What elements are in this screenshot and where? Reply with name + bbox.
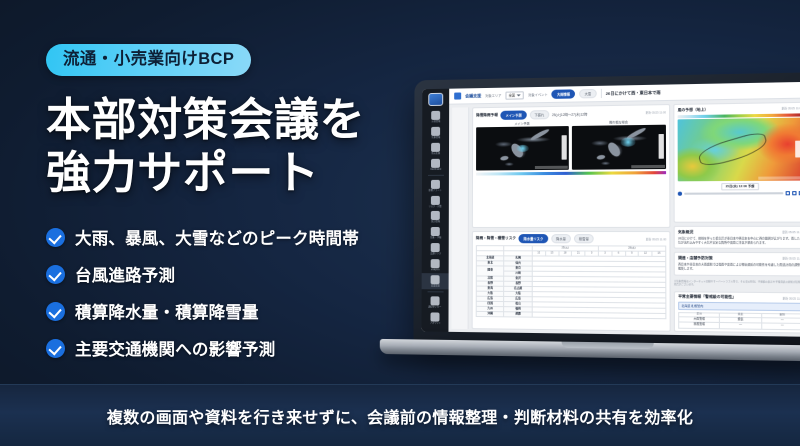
sidebar-item-0[interactable]: 災害情報 (422, 109, 449, 125)
sidebar-item-8[interactable]: 交通リンク (422, 241, 449, 257)
card-title: 関連・店舗予防対策 (678, 256, 713, 261)
rain-area (620, 138, 635, 147)
area-select[interactable]: 全国 (505, 91, 524, 99)
pie-icon (431, 259, 440, 268)
list-item: 主要交通機関への影響予測 (46, 336, 426, 360)
footnote: ※気象情報はインターネット回線やサーバートラブル等で、その日の時刻、予報値の表示… (674, 281, 800, 289)
sidebar-item-label: リスク・対策 (429, 206, 442, 208)
shield-icon (431, 195, 440, 204)
list-item: 台風進路予測 (46, 262, 426, 286)
map-icon (431, 227, 440, 236)
map-legend (561, 135, 566, 159)
list-item: 積算降水量・積算降雪量 (46, 299, 426, 323)
map-caption: 振れ幅な場合 (571, 119, 666, 124)
sidebar-divider (427, 291, 443, 292)
japan-map-alt[interactable] (571, 124, 666, 169)
updated-time: 更新 05/25 11:00 (782, 296, 800, 300)
risk-table[interactable]: 25(火) 26(水) 12 15 (476, 245, 667, 319)
meeting-icon (431, 275, 440, 284)
laptop-mockup: 災害情報 気象情報 防災気象 Dashboard (403, 72, 800, 389)
content-columns: 降雪降雨予報 メイン予測 下振れ 25(火)12時〜27(木)12時 更新 05… (472, 102, 800, 334)
tab-main-forecast[interactable]: メイン予測 (500, 110, 526, 119)
area-label: 対象エリア (485, 93, 501, 98)
card-header: 降雨・降雪・積雪リスク 降水量リスク 降水量 積雪量 更新 05/25 11:0… (476, 234, 666, 243)
sidebar-item-10[interactable]: 会議支援 (422, 273, 449, 289)
precipitation-colorbar (476, 171, 666, 176)
sidebar-item-5[interactable]: リスク・対策 (422, 193, 449, 209)
weather-summary-card: 気象概況 更新 05/25 11:00 26日にかけて、前線を伴った低気圧が東日… (674, 226, 800, 250)
app-title: 会議支援 (465, 93, 481, 99)
caption-bar: 複数の画面や資料を行き来せずに、会議前の情報整理・判断材料の共有を効率化 (0, 384, 800, 446)
map-main-wrap: メイン予測 (476, 120, 568, 170)
forecast-period: 25(火)12時〜27(木)12時 (552, 111, 587, 117)
train-icon (431, 243, 440, 252)
sidebar-item-2[interactable]: 防災気象 (422, 141, 449, 157)
toolbar-divider (600, 89, 601, 98)
graph-icon (431, 211, 440, 220)
list-item: 大雨、暴風、大雪などのピーク時間帯 (46, 225, 426, 249)
updated-time: 更新 05/25 11:00 (646, 237, 667, 241)
sidebar-item-label: 会議支援 (431, 285, 440, 287)
sidebar-item-label: 交通リンク (430, 253, 441, 255)
card-header: 風の予想（地上） 更新 05/25 11:00 (678, 106, 800, 113)
feature-label: 大雨、暴風、大雪などのピーク時間帯 (75, 225, 359, 249)
rain-forecast-card: 降雪降雨予報 メイン予測 下振れ 25(火)12時〜27(木)12時 更新 05… (472, 104, 671, 228)
headline-summary: 26日にかけて西・東日本で雨 (606, 89, 661, 96)
alert-table-card: 平常主要情報「警戒級の可能性」 更新 05/25 11:00 北海道 札幌管内 … (674, 291, 800, 334)
hero-copy: 流通・小売業向けBCP 本部対策会議を 強力サポート 大雨、暴風、大雪などのピー… (46, 44, 426, 373)
time-slider[interactable] (678, 191, 800, 196)
wind-map[interactable] (678, 118, 800, 182)
card-title: 風の予想（地上） (678, 107, 709, 113)
sidebar-item-4[interactable]: 影響アラート (422, 177, 449, 193)
sidebar-item-label: analytics (431, 269, 440, 271)
bar-chart-icon (454, 92, 461, 99)
hero-banner: 流通・小売業向けBCP 本部対策会議を 強力サポート 大雨、暴風、大雪などのピー… (0, 0, 800, 446)
sidebar-item-9[interactable]: analytics (422, 257, 449, 273)
kyushu-shape (500, 155, 509, 160)
sidebar-item-label: 通知センター (428, 306, 441, 308)
feature-label: 主要交通機関への影響予測 (75, 336, 275, 360)
check-circle-icon (46, 265, 65, 284)
city-cell: 那覇 (504, 312, 532, 317)
column-right: 風の予想（地上） 更新 05/25 11:00 (673, 102, 800, 334)
table-row[interactable]: 暴風警報—— (679, 322, 800, 329)
alert-clear: — (761, 323, 800, 329)
action-body: 西日本や東日本の大雨発現では強雨や雷雨による物流遅延の可能性を考慮した配送計画の… (678, 263, 800, 272)
laptop-lid: 災害情報 気象情報 防災気象 Dashboard (413, 72, 800, 348)
app-logo-icon[interactable] (428, 93, 443, 106)
sidebar-item-label: 防災気象 (431, 153, 440, 155)
alert-table-body: 大雨警報発表— 暴風警報—— (679, 317, 800, 329)
updated-time: 更新 05/25 11:00 (782, 257, 800, 261)
action-plan-card: 関連・店舗予防対策 更新 05/25 11:00 西日本や東日本の大雨発現では強… (674, 252, 800, 276)
app-sidebar[interactable]: 災害情報 気象情報 防災気象 Dashboard (421, 89, 449, 332)
map-caption: メイン予測 (476, 120, 568, 125)
honshu-shape (606, 140, 622, 158)
sidebar-item-label: 影響アラート (429, 190, 442, 192)
radar-icon (431, 143, 440, 152)
sidebar-item-label: Dashboard (430, 169, 441, 171)
summary-body: 26日にかけて、前線を伴った低気圧が東日本や西日本を中心に西の範囲が広がります。… (678, 237, 800, 246)
sidebar-item-label: アカウント (429, 322, 440, 324)
updated-time: 更新 05/25 11:00 (782, 230, 800, 234)
card-title: 気象概況 (678, 230, 693, 235)
rain-area (516, 145, 528, 152)
alert-icon (431, 111, 440, 120)
tab-snow-depth[interactable]: 積雪量 (574, 234, 594, 243)
tab-precip-risk[interactable]: 降水量リスク (519, 234, 549, 243)
card-title: 降雪降雨予報 (476, 112, 498, 117)
alert-table[interactable]: 区分 発表 解除 大雨警報発表— 暴風警報—— (678, 312, 800, 330)
risk-table-body: 北海道札幌 東北仙台 関東東京 川崎 北陸金沢 長野長野 東海名古屋 大阪大阪 (476, 256, 666, 319)
map-legend (795, 140, 800, 157)
sidebar-item-11[interactable]: 通知センター (422, 294, 449, 310)
sidebar-item-1[interactable]: 気象情報 (422, 125, 449, 141)
cloud-icon (431, 127, 440, 136)
sidebar-item-label: 統計情報 (431, 221, 440, 223)
wind-forecast-card: 風の予想（地上） 更新 05/25 11:00 (673, 102, 800, 223)
secondary-nav-rail[interactable] (451, 107, 469, 329)
feature-list: 大雨、暴風、大雪などのピーク時間帯 台風進路予測 積算降水量・積算降雪量 主要交… (46, 225, 426, 360)
card-title: 平常主要情報「警戒級の可能性」 (678, 295, 736, 301)
japan-map-main[interactable] (476, 126, 568, 171)
headline-line-2: 強力サポート (46, 146, 426, 199)
region-cell: 沖縄 (476, 312, 504, 317)
slider-handle[interactable] (678, 191, 682, 195)
feature-label: 積算降水量・積算降雪量 (75, 299, 259, 323)
account-icon (430, 312, 439, 321)
sidebar-item-label: 災害情報 (431, 121, 440, 123)
chart-icon (431, 159, 440, 168)
kyushu-shape (596, 154, 605, 159)
sidebar-item-3[interactable]: Dashboard (422, 156, 449, 172)
card-header: 関連・店舗予防対策 更新 05/25 11:00 (678, 256, 800, 262)
check-circle-icon (46, 302, 65, 321)
hokkaido-shape (529, 128, 549, 142)
sidebar-item-7[interactable]: 気象・予報 (422, 225, 449, 241)
check-circle-icon (46, 339, 65, 358)
coastline-overlay (696, 130, 769, 170)
step-back-button[interactable] (786, 191, 790, 195)
card-title: 降雨・降雪・積雪リスク (476, 236, 516, 241)
table-row[interactable]: 沖縄那覇 (476, 312, 666, 319)
app-screen: 災害情報 気象情報 防災気象 Dashboard (421, 82, 800, 337)
event-label: 対象イベント (528, 92, 548, 97)
updated-time: 更新 05/25 11:00 (646, 110, 666, 114)
map-attribution (758, 176, 800, 179)
category-badge: 流通・小売業向けBCP (46, 44, 251, 76)
tab-precip[interactable]: 降水量 (551, 234, 571, 243)
region-cell: 関東 (476, 266, 504, 276)
card-header: 降雪降雨予報 メイン予測 下振れ 25(火)12時〜27(木)12時 更新 05… (476, 108, 666, 120)
slider-track[interactable] (684, 192, 783, 195)
forecast-time-label: 25日(水) 12:00 予想 (721, 182, 759, 190)
notify-icon (431, 296, 440, 305)
map-pair: メイン予測 (476, 119, 666, 170)
sidebar-item-6[interactable]: 統計情報 (422, 209, 449, 225)
map-attribution (534, 165, 567, 168)
alert-kind: 暴風警報 (679, 322, 720, 328)
bell-icon (431, 179, 440, 188)
map-attribution (631, 164, 665, 167)
sidebar-item-label: 気象情報 (431, 137, 440, 139)
app-main: 会議支援 対象エリア 全国 対象イベント 大雨情報 大雪 26日にかけて西・東日… (448, 82, 800, 337)
app-body: 降雪降雨予報 メイン予測 下振れ 25(火)12時〜27(木)12時 更新 05… (448, 99, 800, 337)
time-label-wrap: 25日(水) 12:00 予想 (678, 182, 800, 189)
risk-timeline-card: 降雨・降雪・積雪リスク 降水量リスク 降水量 積雪量 更新 05/25 11:0… (472, 231, 671, 332)
sidebar-item-12[interactable]: アカウント (421, 310, 448, 326)
tab-snow[interactable]: 大雪 (579, 89, 596, 98)
updated-time: 更新 05/25 11:00 (781, 106, 800, 111)
page-title: 本部対策会議を 強力サポート (46, 93, 426, 199)
map-legend (659, 133, 664, 158)
selected-region-row[interactable]: 北海道 札幌管内 (678, 302, 800, 312)
alert-issue: — (720, 323, 762, 329)
tab-rain[interactable]: 大雨情報 (552, 89, 575, 99)
map-alt-wrap: 振れ幅な場合 (571, 119, 666, 169)
card-header: 気象概況 更新 05/25 11:00 (678, 230, 800, 235)
headline-line-1: 本部対策会議を (46, 93, 426, 146)
tab-alt-forecast[interactable]: 下振れ (529, 110, 549, 119)
risk-cells (532, 312, 666, 319)
caption-text: 複数の画面や資料を行き来せずに、会議前の情報整理・判断材料の共有を効率化 (107, 404, 693, 428)
check-circle-icon (46, 228, 65, 247)
sidebar-divider (428, 174, 444, 175)
sidebar-item-label: 気象・予報 (430, 237, 441, 239)
card-header: 平常主要情報「警戒級の可能性」 更新 05/25 11:00 (678, 295, 800, 301)
column-left: 降雪降雨予報 メイン予測 下振れ 25(火)12時〜27(木)12時 更新 05… (472, 104, 671, 332)
play-button[interactable] (792, 191, 796, 195)
feature-label: 台風進路予測 (75, 262, 175, 286)
